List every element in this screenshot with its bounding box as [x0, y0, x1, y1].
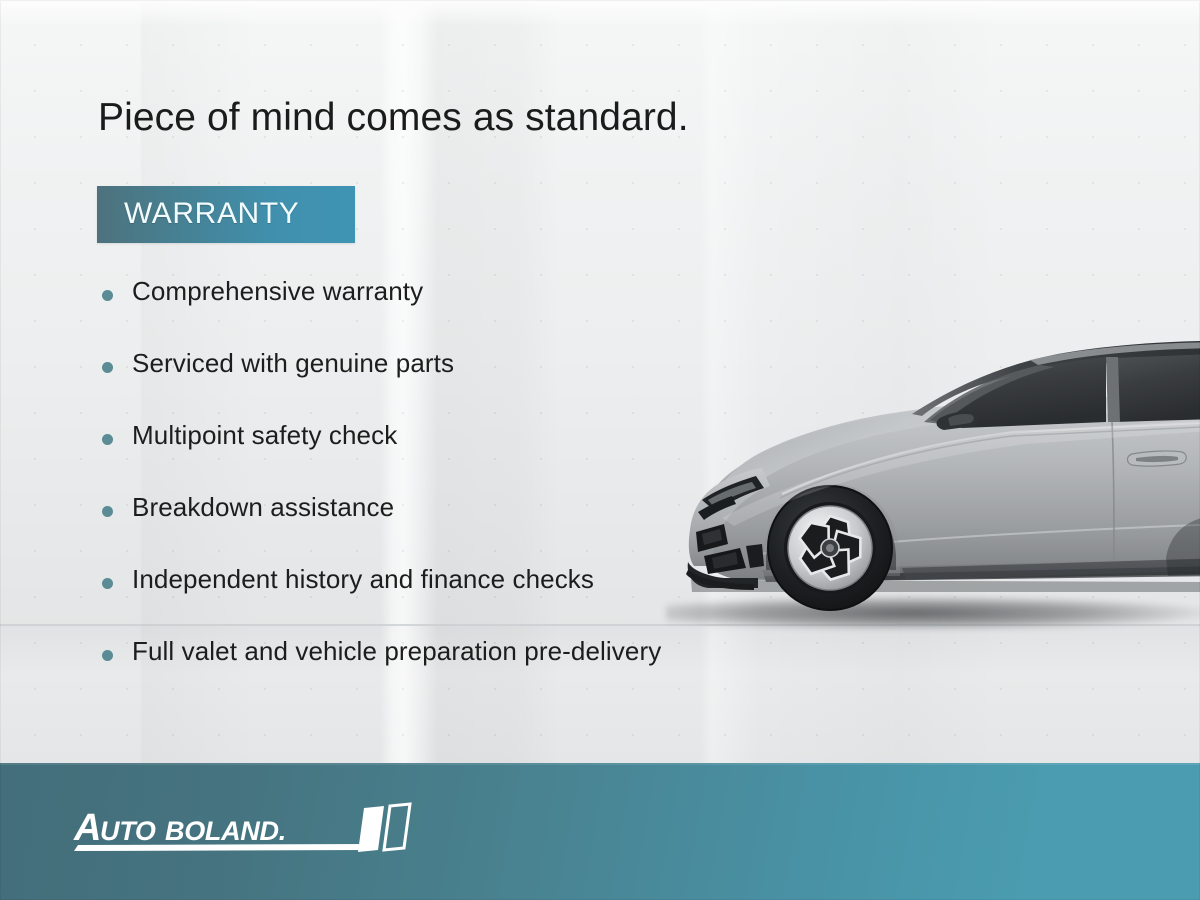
list-item: Serviced with genuine parts [98, 348, 858, 420]
logo-bar-solid [358, 806, 384, 852]
logo-word-boland: BOLAND. [165, 816, 286, 846]
logo-underline [74, 844, 372, 851]
list-item: Full valet and vehicle preparation pre-d… [98, 636, 858, 708]
page-title: Piece of mind comes as standard. [98, 96, 689, 140]
background-top-glow [0, 0, 1200, 26]
list-item: Comprehensive warranty [98, 276, 858, 348]
bullet-dot-icon [102, 434, 113, 445]
bullet-dot-icon [102, 578, 113, 589]
list-item-label: Serviced with genuine parts [132, 348, 454, 379]
bullet-dot-icon [102, 362, 113, 373]
list-item-label: Independent history and finance checks [132, 564, 594, 595]
bullet-dot-icon [102, 650, 113, 661]
section-badge-label: WARRANTY [124, 197, 299, 231]
logo-letter-a: A [73, 807, 101, 849]
bullet-dot-icon [102, 290, 113, 301]
list-item-label: Multipoint safety check [132, 420, 397, 451]
slide-canvas: Piece of mind comes as standard. WARRANT… [0, 0, 1200, 900]
section-badge-warranty: WARRANTY [97, 186, 355, 243]
bullet-dot-icon [102, 506, 113, 517]
list-item: Breakdown assistance [98, 492, 858, 564]
list-item: Independent history and finance checks [98, 564, 858, 636]
logo-bar-outline [384, 804, 410, 850]
list-item-label: Comprehensive warranty [132, 276, 423, 307]
logo-word-uto: UTO [100, 816, 156, 846]
list-item-label: Full valet and vehicle preparation pre-d… [132, 636, 661, 667]
feature-list: Comprehensive warranty Serviced with gen… [98, 276, 858, 708]
brand-logo[interactable]: A UTO BOLAND. [72, 800, 417, 858]
footer-top-edge [0, 763, 1200, 765]
list-item: Multipoint safety check [98, 420, 858, 492]
list-item-label: Breakdown assistance [132, 492, 394, 523]
